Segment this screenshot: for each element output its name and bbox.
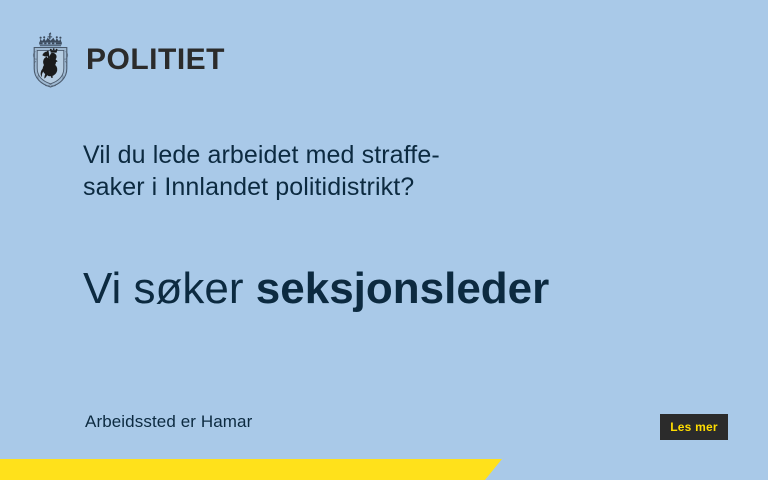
work-location-text: Arbeidssted er Hamar	[85, 412, 252, 432]
yellow-accent-band	[0, 459, 502, 480]
kicker-text: Vil du lede arbeidet med straffe- saker …	[83, 139, 643, 203]
kicker-line-1: Vil du lede arbeidet med straffe-	[83, 139, 643, 171]
norwegian-coat-of-arms-icon	[27, 31, 74, 88]
politiet-logo: POLITIET	[27, 31, 225, 88]
headline-prefix: Vi søker	[83, 264, 256, 313]
job-advert-banner: POLITIET Vil du lede arbeidet med straff…	[0, 0, 768, 480]
les-mer-button-label: Les mer	[670, 421, 717, 433]
les-mer-button[interactable]: Les mer	[660, 414, 728, 440]
page-title: Vi søker seksjonsleder	[83, 265, 549, 313]
headline-role: seksjonsleder	[256, 264, 550, 313]
politiet-wordmark: POLITIET	[86, 45, 225, 75]
kicker-line-2: saker i Innlandet politidistrikt?	[83, 171, 643, 203]
